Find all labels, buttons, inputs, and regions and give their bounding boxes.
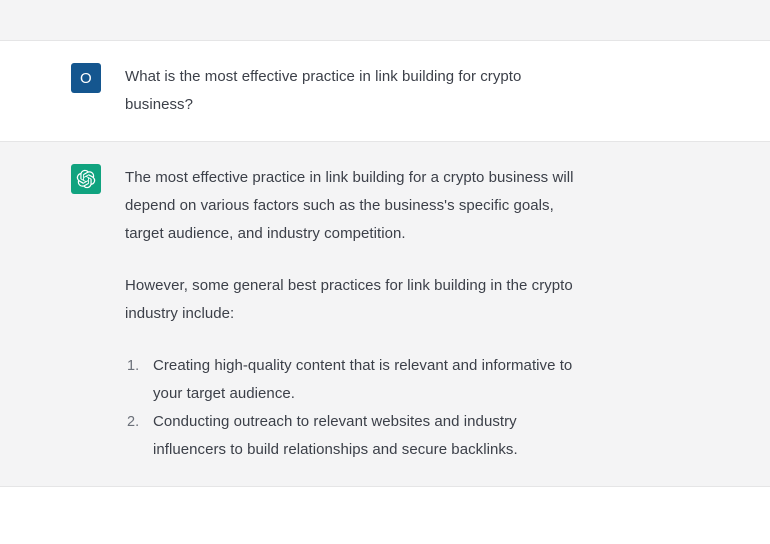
- user-message-paragraph: What is the most effective practice in l…: [125, 63, 585, 119]
- list-item: Creating high-quality content that is re…: [125, 352, 585, 408]
- message-row-user: O What is the most effective practice in…: [0, 41, 770, 142]
- assistant-paragraph-1: The most effective practice in link buil…: [125, 164, 585, 248]
- assistant-ordered-list: Creating high-quality content that is re…: [125, 352, 585, 464]
- message-inner-assistant: The most effective practice in link buil…: [0, 142, 770, 486]
- message-inner-user: O What is the most effective practice in…: [0, 41, 770, 141]
- assistant-paragraph-2: However, some general best practices for…: [125, 272, 585, 328]
- assistant-message-text: The most effective practice in link buil…: [125, 164, 585, 464]
- chat-conversation: O What is the most effective practice in…: [0, 0, 770, 544]
- user-message-text: What is the most effective practice in l…: [125, 63, 585, 119]
- openai-logo-icon: [71, 164, 101, 194]
- list-item: Conducting outreach to relevant websites…: [125, 408, 585, 464]
- next-message-strip: [0, 487, 770, 544]
- user-avatar-label: O: [80, 70, 92, 87]
- user-initial-avatar: O: [71, 63, 101, 93]
- previous-message-strip: [0, 0, 770, 41]
- message-row-assistant: The most effective practice in link buil…: [0, 142, 770, 487]
